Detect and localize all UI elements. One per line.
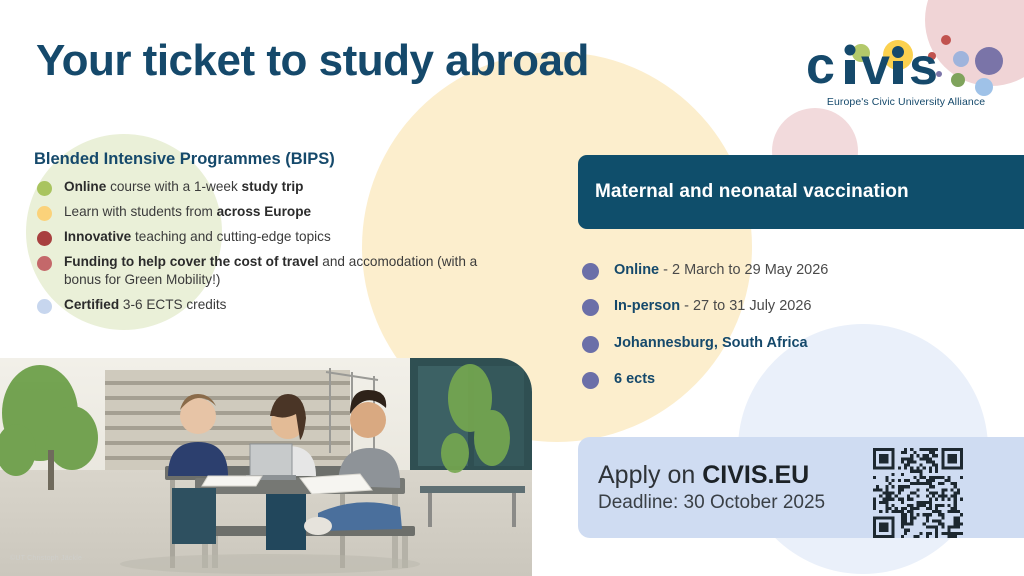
list-item-text: Johannesburg, South Africa bbox=[614, 335, 808, 351]
list-item-text: Online course with a 1-week study trip bbox=[64, 179, 303, 194]
apply-headline: Apply on CIVIS.EU bbox=[598, 461, 825, 490]
list-item-text: Innovative teaching and cutting-edge top… bbox=[64, 229, 331, 244]
bips-section-title: Blended Intensive Programmes (BIPS) bbox=[34, 150, 504, 169]
apply-deadline: Deadline: 30 October 2025 bbox=[598, 492, 825, 515]
apply-callout[interactable]: Apply on CIVIS.EU Deadline: 30 October 2… bbox=[578, 437, 1024, 538]
list-item: Certified 3-6 ECTS credits bbox=[34, 296, 504, 314]
photo-credit: ©UT Christoph Jäckle bbox=[10, 555, 82, 562]
civis-logo-icon: c v s bbox=[806, 28, 1006, 98]
civis-logo-tagline: Europe's Civic University Alliance bbox=[806, 96, 1006, 108]
list-item: Innovative teaching and cutting-edge top… bbox=[34, 228, 504, 246]
students-photo-image bbox=[0, 358, 532, 576]
course-detail-list: Online - 2 March to 29 May 2026 In-perso… bbox=[582, 262, 1012, 408]
qr-code[interactable] bbox=[873, 448, 963, 538]
bullet-dot-purple bbox=[582, 263, 599, 280]
bullet-dot-purple bbox=[582, 336, 599, 353]
list-item: Funding to help cover the cost of travel… bbox=[34, 253, 504, 289]
qr-code-icon bbox=[873, 448, 963, 538]
list-item: In-person - 27 to 31 July 2026 bbox=[582, 298, 1012, 315]
course-title-bar: Maternal and neonatal vaccination bbox=[578, 155, 1024, 229]
list-item-text: Learn with students from across Europe bbox=[64, 204, 311, 219]
bips-feature-list: Online course with a 1-week study trip L… bbox=[34, 178, 504, 314]
bullet-dot-purple bbox=[582, 372, 599, 389]
bullet-dot-lightblue bbox=[37, 299, 52, 314]
course-title: Maternal and neonatal vaccination bbox=[578, 181, 909, 203]
list-item: Learn with students from across Europe bbox=[34, 203, 504, 221]
svg-text:s: s bbox=[909, 38, 938, 96]
bullet-dot-darkred bbox=[37, 231, 52, 246]
list-item: 6 ects bbox=[582, 371, 1012, 388]
svg-text:v: v bbox=[861, 38, 890, 96]
bullet-dot-yellow bbox=[37, 206, 52, 221]
list-item: Online - 2 March to 29 May 2026 bbox=[582, 262, 1012, 279]
list-item: Johannesburg, South Africa bbox=[582, 335, 1012, 352]
apply-text-group: Apply on CIVIS.EU Deadline: 30 October 2… bbox=[598, 461, 825, 515]
bullet-dot-purple bbox=[582, 299, 599, 316]
page-title: Your ticket to study abroad bbox=[36, 38, 589, 84]
list-item-text: In-person - 27 to 31 July 2026 bbox=[614, 298, 811, 314]
list-item-text: Online - 2 March to 29 May 2026 bbox=[614, 262, 828, 278]
bullet-dot-red bbox=[37, 256, 52, 271]
poster-canvas: Your ticket to study abroad c v s Europe… bbox=[0, 0, 1024, 576]
students-photo: ©UT Christoph Jäckle bbox=[0, 358, 532, 576]
list-item-text: Funding to help cover the cost of travel… bbox=[64, 254, 477, 287]
svg-text:c: c bbox=[806, 37, 839, 95]
civis-logo: c v s Europe's Civic University Alliance bbox=[806, 28, 1006, 116]
bips-section: Blended Intensive Programmes (BIPS) Onli… bbox=[34, 150, 504, 321]
bullet-dot-green bbox=[37, 181, 52, 196]
list-item-text: Certified 3-6 ECTS credits bbox=[64, 297, 226, 312]
list-item: Online course with a 1-week study trip bbox=[34, 178, 504, 196]
list-item-text: 6 ects bbox=[614, 371, 655, 387]
